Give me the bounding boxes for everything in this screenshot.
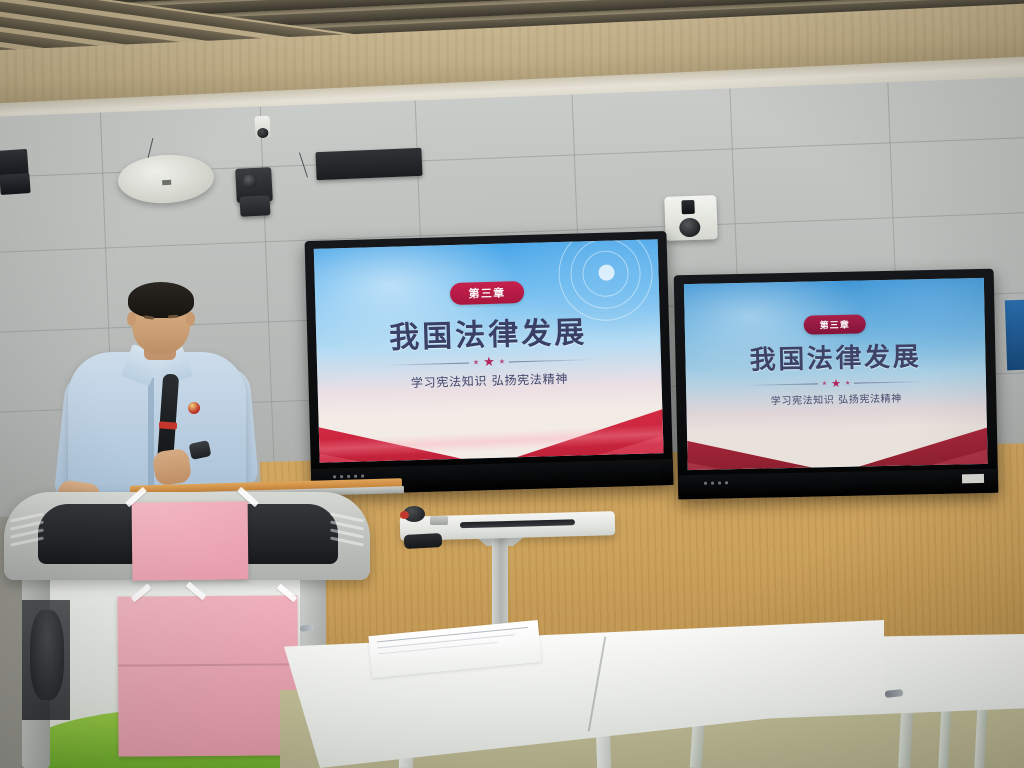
pedestal-table-cable-slot (460, 519, 575, 528)
wall-speaker-icon (315, 148, 422, 180)
slide-star-center: ★ (831, 378, 841, 389)
slide-star-small-left: ★ (822, 381, 828, 387)
slide-star-center: ★ (483, 356, 495, 369)
secondary-display-label (962, 474, 984, 483)
speaker-shirt-placket (148, 378, 154, 496)
slide-star-small-right: ★ (845, 380, 851, 386)
desktop-microphone-indicator (400, 511, 409, 519)
slide-divider-left (385, 363, 469, 366)
slide-chapter-badge: 第三章 (804, 314, 866, 334)
pink-notice-sheet-lower (117, 595, 298, 756)
stage-light-base (0, 173, 31, 195)
lecture-hall-photo: 第三章 我国法律发展 ★ ★ ★ 学习宪法知识 弘扬宪法精神 (0, 0, 1024, 768)
microphone-clip-icon (430, 516, 448, 525)
slide-chapter-badge: 第三章 (450, 281, 525, 305)
lapel-pin-icon (188, 402, 200, 414)
slide-divider-left (746, 383, 818, 386)
slide-divider-right (854, 381, 926, 384)
primary-display[interactable]: 第三章 我国法律发展 ★ ★ ★ 学习宪法知识 弘扬宪法精神 (305, 231, 674, 495)
microphone-red-band (159, 421, 177, 429)
speaker-hand-holding-mic (152, 448, 192, 487)
secondary-display[interactable]: 第三章 我国法律发展 ★ ★ ★ 学习宪法知识 弘扬宪法精神 (674, 269, 999, 500)
lectern-cable-bundle (30, 610, 64, 700)
slide-star-small-right: ★ (499, 359, 505, 366)
ceiling-surveillance-camera-icon (254, 116, 270, 139)
desktop-microphone-base (404, 533, 443, 549)
ptz-camera-mount (239, 195, 270, 217)
pedestal-table-pole (492, 536, 508, 628)
pink-notice-sheet-upper (132, 501, 249, 580)
speaker-ear-right (186, 312, 195, 326)
speaker-ear-left (127, 312, 136, 326)
speaker-person (60, 282, 260, 497)
wall-blue-strip (1005, 300, 1024, 371)
speaker-hair (128, 282, 194, 318)
slide-title: 我国法律发展 (685, 335, 986, 378)
slide-star-small-left: ★ (473, 359, 479, 366)
secondary-display-buttons[interactable] (704, 481, 728, 485)
slide-divider-right (509, 359, 593, 362)
wall-sensor-unit-icon (664, 195, 718, 241)
